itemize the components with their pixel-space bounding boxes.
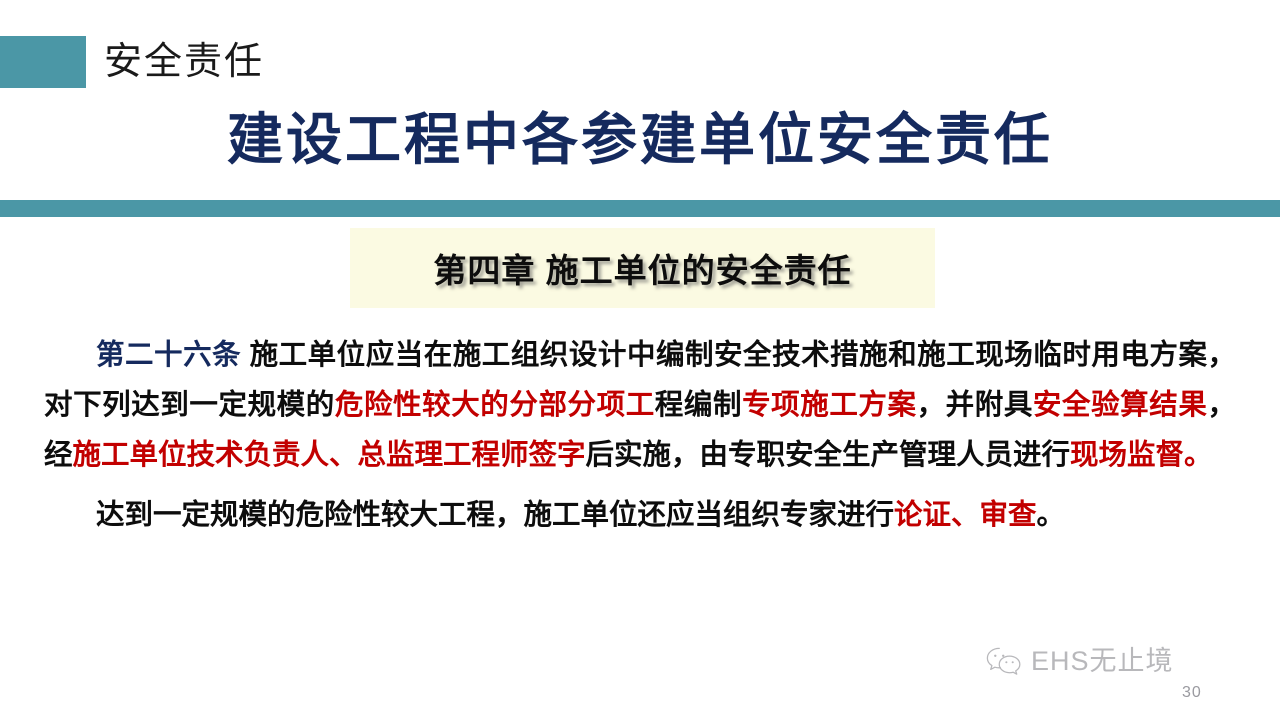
watermark: EHS无止境 xyxy=(985,645,1174,677)
header-divider-band xyxy=(0,200,1280,217)
chapter-title: 第四章 施工单位的安全责任 xyxy=(350,228,935,308)
watermark-label: EHS无止境 xyxy=(1031,646,1174,676)
body-content: 第二十六条 施工单位应当在施工组织设计中编制安全技术措施和施工现场临时用电方案，… xyxy=(44,330,1236,540)
secondary-paragraph-body: 达到一定规模的危险性较大工程，施工单位还应当组织专家进行论证、审查。 xyxy=(96,499,1065,531)
slide-canvas: 安全责任 建设工程中各参建单位安全责任 第四章 施工单位的安全责任 第二十六条 … xyxy=(0,0,1280,720)
article-number: 第二十六条 xyxy=(96,339,241,371)
page-title: 建设工程中各参建单位安全责任 xyxy=(0,104,1280,176)
wechat-icon xyxy=(985,645,1023,677)
secondary-paragraph: 达到一定规模的危险性较大工程，施工单位还应当组织专家进行论证、审查。 xyxy=(44,490,1236,540)
article-paragraph: 第二十六条 施工单位应当在施工组织设计中编制安全技术措施和施工现场临时用电方案，… xyxy=(44,330,1236,480)
page-number: 30 xyxy=(1182,684,1202,702)
kicker-accent-block xyxy=(0,36,86,88)
kicker-label: 安全责任 xyxy=(104,36,264,88)
